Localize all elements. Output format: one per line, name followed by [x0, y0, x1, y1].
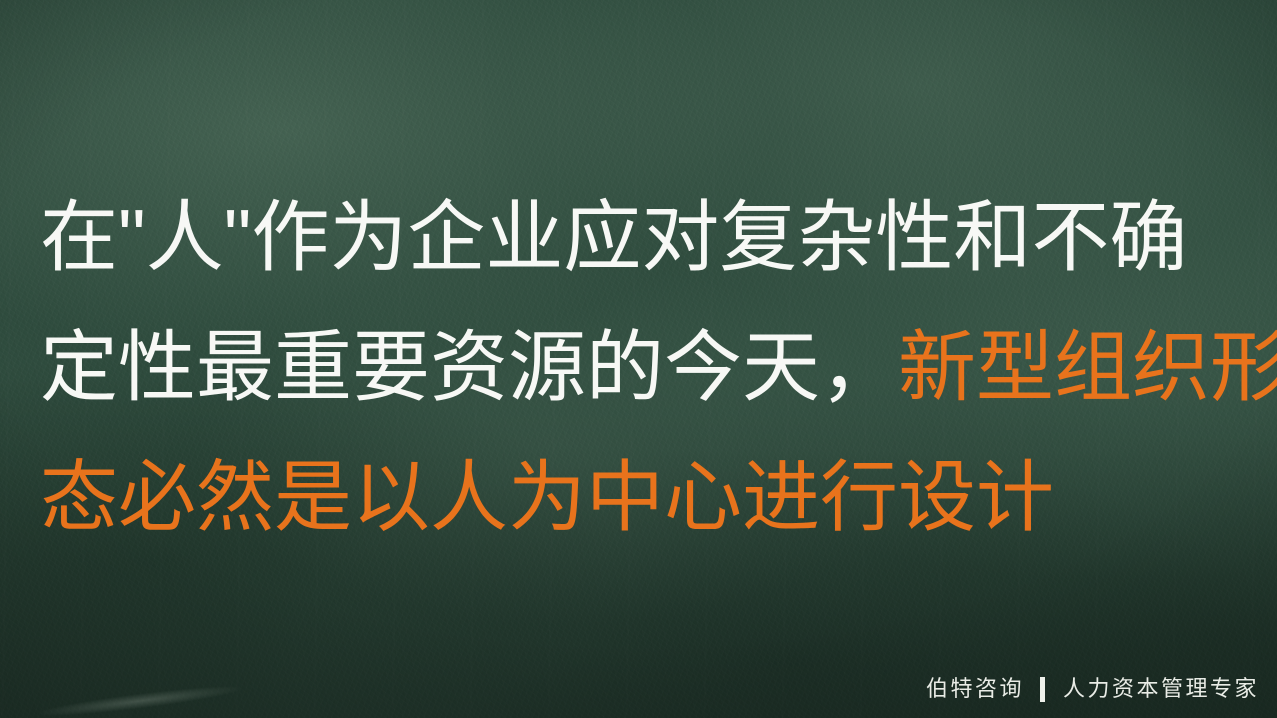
presentation-slide: 在"人"作为企业应对复杂性和不确 定性最重要资源的今天，新型组织形 态必然是以人…: [0, 0, 1277, 718]
footer-divider-bar: [1040, 677, 1045, 702]
footer-brand-name: 伯特咨询: [926, 672, 1024, 706]
chalk-scuff-mark: [39, 678, 240, 718]
headline-line-2-segment-1: 定性最重要资源的今天，: [40, 323, 898, 411]
footer-tagline: 人力资本管理专家: [1063, 672, 1259, 706]
headline-text-block: 在"人"作为企业应对复杂性和不确 定性最重要资源的今天，新型组织形 态必然是以人…: [40, 172, 1240, 562]
headline-line-2-segment-2-highlight: 新型组织形: [898, 323, 1277, 411]
slide-footer: 伯特咨询 人力资本管理专家: [926, 672, 1259, 706]
headline-line-3: 态必然是以人为中心进行设计: [40, 432, 1240, 562]
headline-line-1: 在"人"作为企业应对复杂性和不确: [40, 172, 1240, 302]
headline-line-3-segment-1-highlight: 态必然是以人为中心进行设计: [40, 453, 1054, 541]
headline-line-2: 定性最重要资源的今天，新型组织形: [40, 302, 1240, 432]
headline-line-1-segment-1: 在"人"作为企业应对复杂性和不确: [40, 193, 1187, 281]
